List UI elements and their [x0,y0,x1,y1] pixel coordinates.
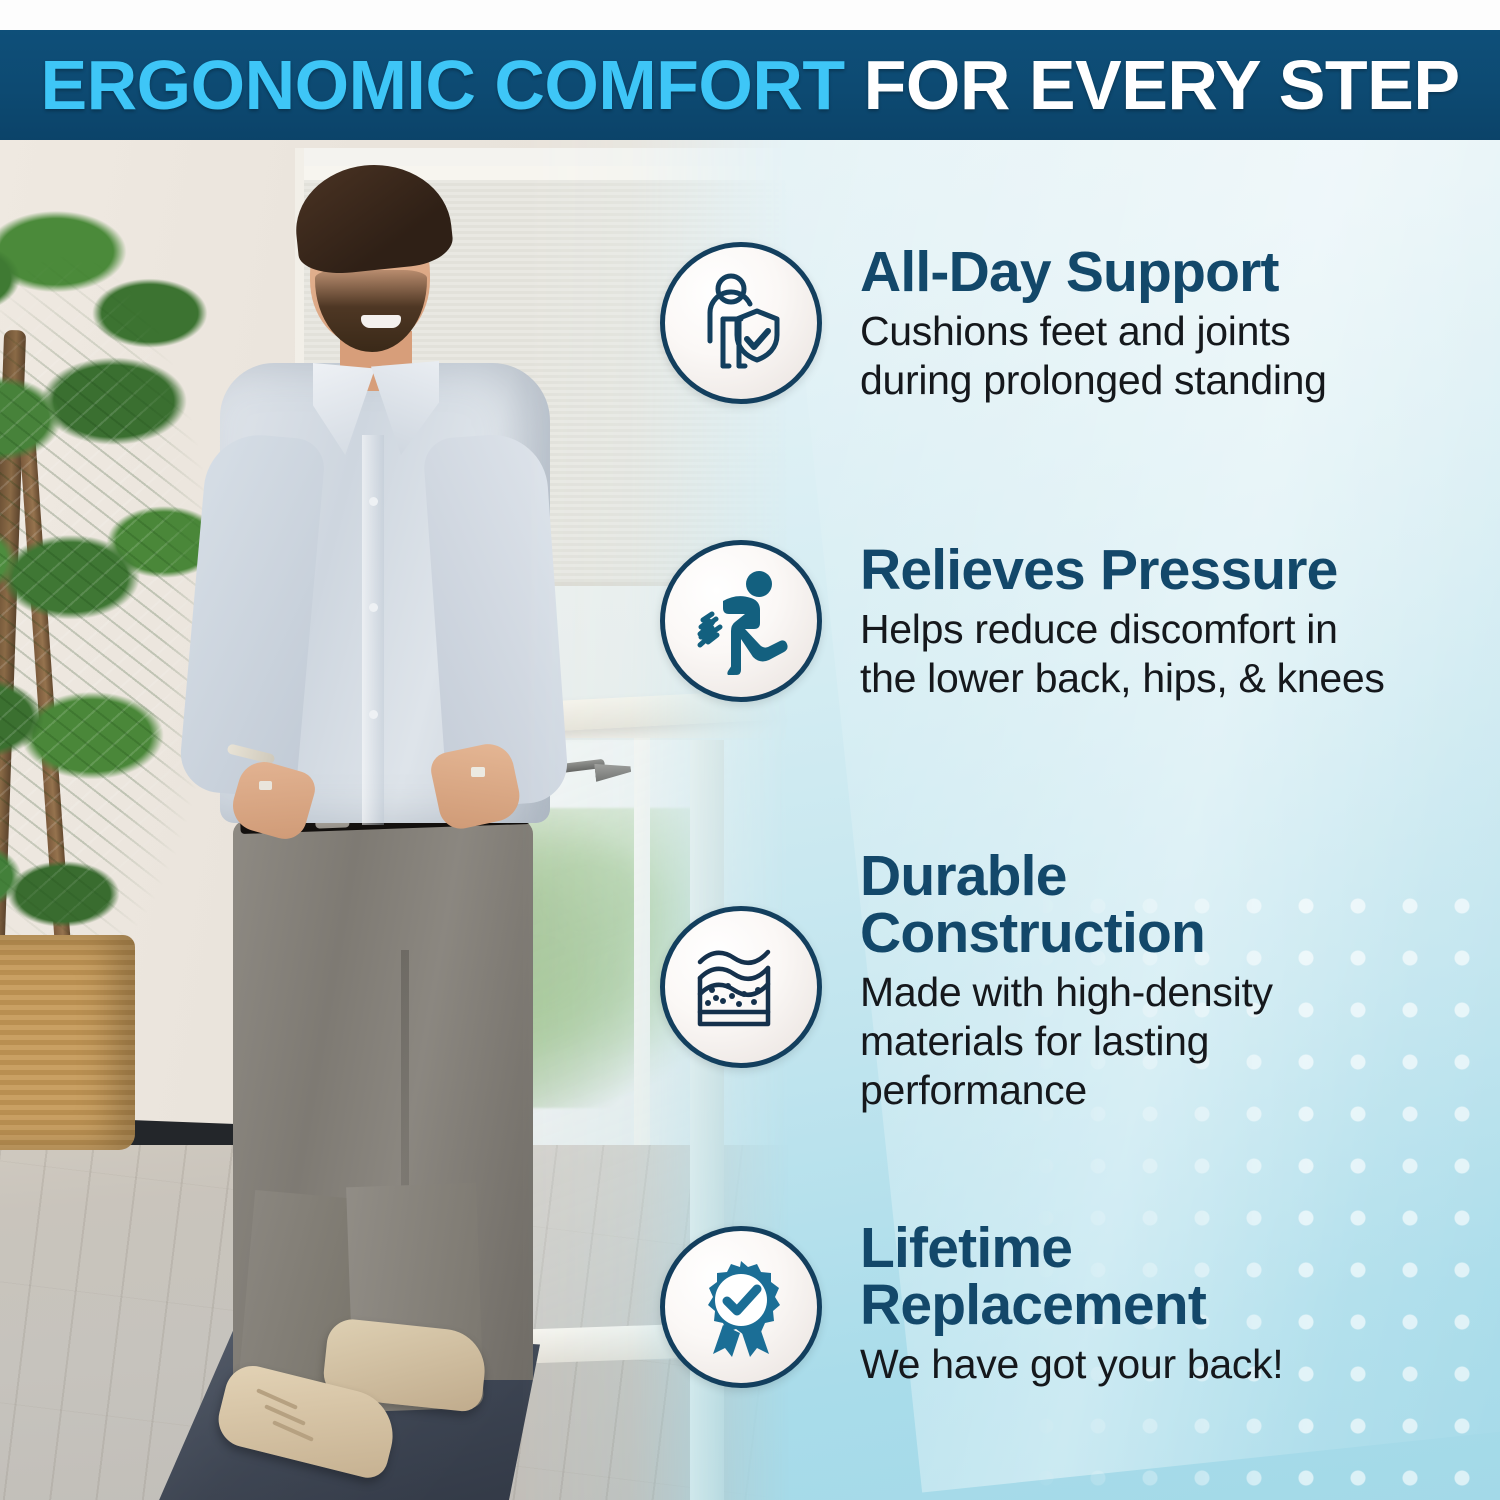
page-title-highlight: ERGONOMIC COMFORT [40,46,844,124]
feature-list: All-Day Support Cushions feet and joints… [660,140,1500,1500]
shirt-button [369,603,378,612]
back-pain-person-icon [660,540,822,702]
infographic-canvas: ERGONOMIC COMFORT FOR EVERY STEP [0,0,1500,1500]
feature-title: Durable Construction [860,848,1273,962]
hair [290,157,455,278]
feature-body-line: Helps reduce discomfort in [860,605,1385,654]
feature-body: Made with high-density materials for las… [860,968,1273,1116]
shirt-button [369,710,378,719]
feature-body: Cushions feet and joints during prolonge… [860,307,1327,405]
feature-body-line: the lower back, hips, & knees [860,654,1385,703]
left-ring [259,781,272,790]
mat-layers-icon [660,906,822,1068]
mouth [361,315,401,328]
feature-text: Durable Construction Made with high-dens… [860,848,1273,1116]
shirt-button [369,497,378,506]
feature-title-line: Relieves Pressure [860,542,1385,599]
feature-item-durable-construction: Durable Construction Made with high-dens… [660,848,1273,1116]
feature-title-line: Lifetime [860,1220,1283,1277]
top-white-margin [0,0,1500,30]
feature-text: Lifetime Replacement We have got your ba… [860,1220,1283,1389]
award-badge-check-icon [660,1226,822,1388]
feature-title-line: All-Day Support [860,244,1327,301]
feature-title: Relieves Pressure [860,542,1385,599]
feature-text: All-Day Support Cushions feet and joints… [860,242,1327,405]
feature-title-line: Durable [860,848,1273,905]
page-title: ERGONOMIC COMFORT FOR EVERY STEP [40,50,1459,120]
header-banner: ERGONOMIC COMFORT FOR EVERY STEP [0,30,1500,140]
feature-item-lifetime-replacement: Lifetime Replacement We have got your ba… [660,1220,1283,1389]
feature-body: We have got your back! [860,1340,1283,1389]
woven-basket-pot [0,935,135,1150]
right-ring [471,767,485,777]
feature-item-all-day-support: All-Day Support Cushions feet and joints… [660,242,1327,405]
feature-body: Helps reduce discomfort in the lower bac… [860,605,1385,703]
feature-body-line: Made with high-density [860,968,1273,1017]
page-title-rest: FOR EVERY STEP [845,46,1460,124]
shirt-placket [362,435,384,825]
feature-body-line: We have got your back! [860,1340,1283,1389]
feature-title-line: Construction [860,905,1273,962]
model-person [135,140,575,1500]
feature-text: Relieves Pressure Helps reduce discomfor… [860,540,1385,703]
feature-body-line: performance [860,1066,1273,1115]
feature-item-relieves-pressure: Relieves Pressure Helps reduce discomfor… [660,540,1385,703]
feature-body-line: during prolonged standing [860,356,1327,405]
feature-title: All-Day Support [860,244,1327,301]
person-shield-check-icon [660,242,822,404]
feature-body-line: materials for lasting [860,1017,1273,1066]
feature-title: Lifetime Replacement [860,1220,1283,1334]
feature-title-line: Replacement [860,1277,1283,1334]
feature-body-line: Cushions feet and joints [860,307,1327,356]
